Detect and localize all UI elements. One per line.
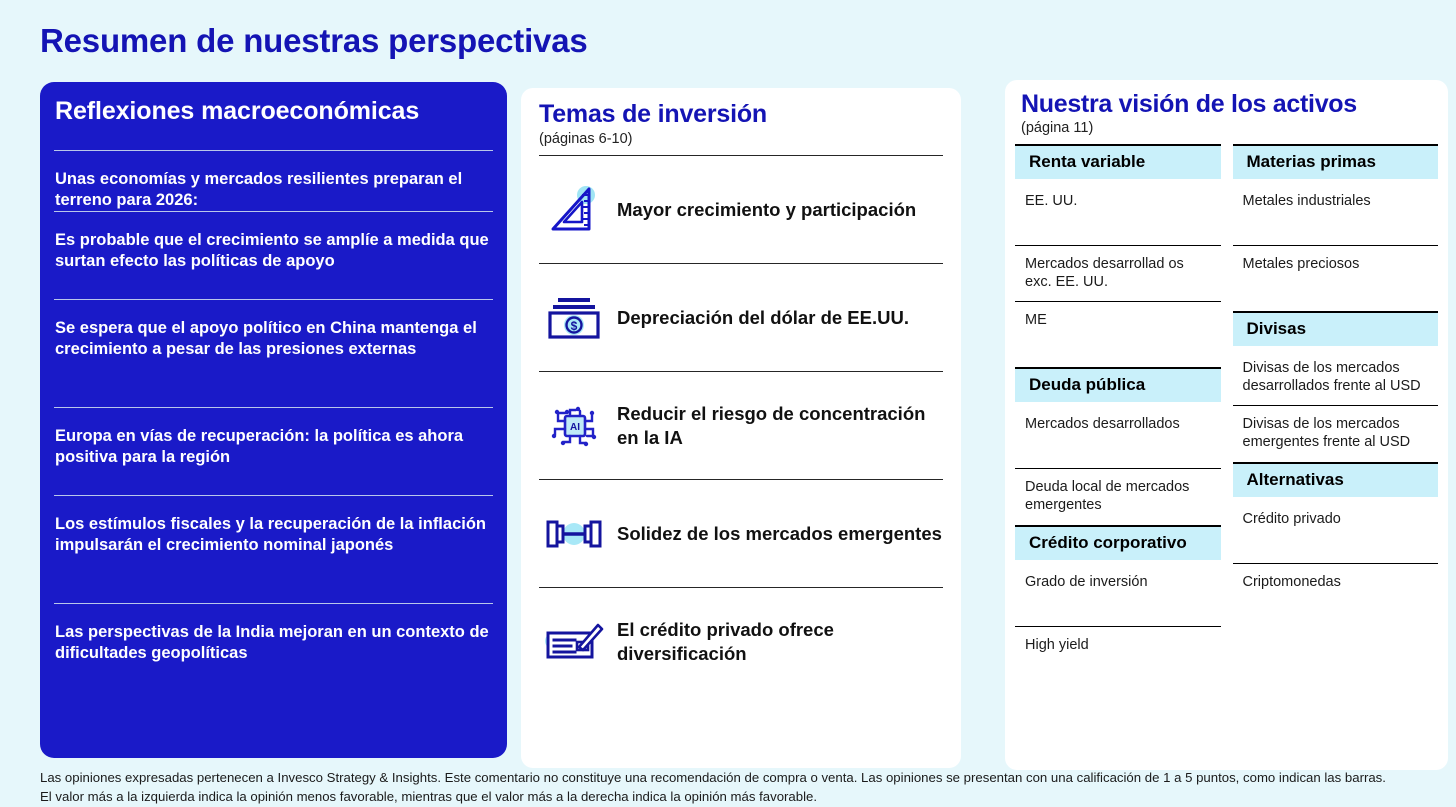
- asset-row[interactable]: Criptomonedas: [1233, 563, 1439, 629]
- asset-row[interactable]: Mercados desarrollad os exc. EE. UU.: [1015, 245, 1221, 301]
- asset-category-header: Crédito corporativo: [1015, 525, 1221, 560]
- themes-panel-pages: (páginas 6-10): [539, 131, 943, 147]
- disclaimer-line-2: El valor más a la izquierda indica la op…: [40, 788, 1440, 807]
- macro-items-list: Unas economías y mercados resilientes pr…: [54, 150, 493, 691]
- asset-row[interactable]: Divisas de los mercados desarrollados fr…: [1233, 346, 1439, 405]
- themes-panel-title: Temas de inversión: [539, 100, 943, 129]
- asset-row[interactable]: High yield: [1015, 626, 1221, 692]
- macro-panel-title: Reflexiones macroeconómicas: [54, 96, 493, 126]
- macro-item: Las perspectivas de la India mejoran en …: [54, 603, 493, 691]
- macro-reflections-panel: Reflexiones macroeconómicas Unas economí…: [40, 82, 507, 758]
- cheque-pen-icon: [539, 619, 609, 665]
- asset-row[interactable]: Mercados desarrollados: [1015, 402, 1221, 468]
- macro-item: Se espera que el apoyo político en China…: [54, 299, 493, 407]
- asset-category-header: Divisas: [1233, 311, 1439, 346]
- money-stack-dollar-icon: $: [539, 296, 609, 340]
- theme-item[interactable]: $ Depreciación del dólar de EE.UU.: [539, 263, 943, 371]
- macro-item: Europa en vías de recuperación: la polít…: [54, 407, 493, 495]
- macro-item: Unas economías y mercados resilientes pr…: [54, 150, 493, 211]
- theme-label: Mayor crecimiento y participación: [609, 198, 916, 221]
- assets-left-column: Renta variable EE. UU. Mercados desarrol…: [1015, 144, 1221, 692]
- disclaimer-line-1: Las opiniones expresadas pertenecen a In…: [40, 769, 1440, 788]
- theme-label: Solidez de los mercados emergentes: [609, 522, 942, 545]
- ai-chip-icon: AI: [539, 402, 609, 450]
- asset-category-header: Deuda pública: [1015, 367, 1221, 402]
- page-title: Resumen de nuestras perspectivas: [40, 22, 588, 60]
- assets-panel-title: Nuestra visión de los activos: [1011, 90, 1442, 119]
- theme-label: Depreciación del dólar de EE.UU.: [609, 306, 909, 329]
- asset-row[interactable]: Crédito privado: [1233, 497, 1439, 563]
- investment-themes-panel: Temas de inversión (páginas 6-10) Mayor …: [521, 88, 961, 768]
- asset-row[interactable]: Metales industriales: [1233, 179, 1439, 245]
- macro-item: Los estímulos fiscales y la recuperación…: [54, 495, 493, 603]
- theme-item[interactable]: El crédito privado ofrece diversificació…: [539, 587, 943, 695]
- assets-panel-page: (página 11): [1011, 120, 1442, 136]
- asset-category-header: Renta variable: [1015, 144, 1221, 179]
- svg-text:$: $: [571, 319, 578, 333]
- asset-row[interactable]: EE. UU.: [1015, 179, 1221, 245]
- set-square-ruler-icon: [539, 185, 609, 235]
- asset-row[interactable]: Deuda local de mercados emergentes: [1015, 468, 1221, 524]
- svg-text:AI: AI: [570, 422, 580, 433]
- assets-columns: Renta variable EE. UU. Mercados desarrol…: [1011, 144, 1442, 692]
- theme-item[interactable]: Solidez de los mercados emergentes: [539, 479, 943, 587]
- asset-category-header: Materias primas: [1233, 144, 1439, 179]
- theme-item[interactable]: Mayor crecimiento y participación: [539, 155, 943, 263]
- asset-row[interactable]: ME: [1015, 301, 1221, 367]
- asset-row[interactable]: Divisas de los mercados emergentes frent…: [1233, 405, 1439, 461]
- asset-row[interactable]: Metales preciosos: [1233, 245, 1439, 311]
- macro-item: Es probable que el crecimiento se amplíe…: [54, 211, 493, 299]
- theme-label: El crédito privado ofrece diversificació…: [609, 618, 943, 664]
- disclaimer-footer: Las opiniones expresadas pertenecen a In…: [40, 769, 1440, 806]
- asset-row[interactable]: Grado de inversión: [1015, 560, 1221, 626]
- assets-right-column: Materias primas Metales industriales Met…: [1233, 144, 1439, 692]
- asset-category-header: Alternativas: [1233, 462, 1439, 497]
- theme-label: Reducir el riesgo de concentración en la…: [609, 402, 943, 448]
- asset-views-panel: Nuestra visión de los activos (página 11…: [1005, 80, 1448, 770]
- theme-item[interactable]: AI Reducir el ri: [539, 371, 943, 479]
- dumbbell-icon: [539, 514, 609, 554]
